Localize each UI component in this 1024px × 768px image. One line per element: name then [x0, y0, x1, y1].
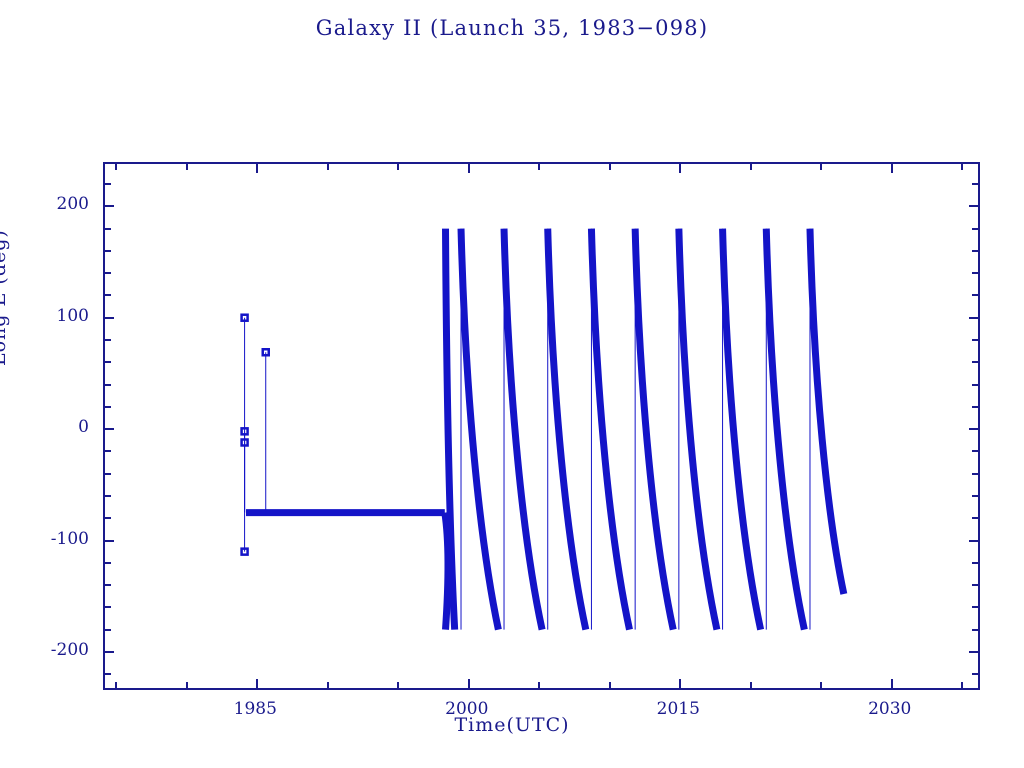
early-data-point	[242, 315, 248, 321]
x-tick-minor-top	[186, 164, 188, 170]
y-tick-minor-right	[972, 250, 978, 252]
y-tick-minor-right	[972, 562, 978, 564]
y-tick-minor	[105, 584, 111, 586]
y-tick-label: -200	[29, 640, 89, 660]
plot-frame	[103, 162, 980, 690]
y-tick-minor	[105, 517, 111, 519]
x-tick-minor-top	[820, 164, 822, 170]
y-tick-minor-right	[972, 584, 978, 586]
x-tick-minor	[327, 682, 329, 688]
x-tick-minor-top	[961, 164, 963, 170]
y-tick-minor	[105, 473, 111, 475]
x-tick-minor-top	[327, 164, 329, 170]
y-tick-label: 0	[29, 417, 89, 437]
y-tick-minor-right	[972, 294, 978, 296]
y-tick-major-right	[969, 428, 978, 430]
y-tick-minor-right	[972, 183, 978, 185]
y-tick-minor-right	[972, 629, 978, 631]
x-tick-minor	[538, 682, 540, 688]
x-tick-major-top	[468, 164, 470, 173]
x-tick-minor	[750, 682, 752, 688]
y-tick-minor	[105, 294, 111, 296]
y-tick-major	[105, 651, 114, 653]
y-tick-minor	[105, 272, 111, 274]
y-tick-label: 100	[29, 306, 89, 326]
y-tick-minor	[105, 228, 111, 230]
y-tick-label: 200	[29, 194, 89, 214]
y-tick-minor-right	[972, 272, 978, 274]
y-tick-major	[105, 317, 114, 319]
drift-cycle-curve	[591, 229, 629, 630]
y-tick-minor	[105, 495, 111, 497]
y-tick-minor	[105, 361, 111, 363]
x-axis-title: Time(UTC)	[0, 714, 1024, 736]
y-tick-minor	[105, 339, 111, 341]
y-tick-minor	[105, 629, 111, 631]
y-tick-minor	[105, 673, 111, 675]
x-tick-minor	[820, 682, 822, 688]
x-tick-minor	[961, 682, 963, 688]
x-tick-major-top	[891, 164, 893, 173]
longitude-series	[242, 229, 844, 630]
y-tick-minor-right	[972, 495, 978, 497]
x-tick-minor-top	[538, 164, 540, 170]
y-tick-minor	[105, 562, 111, 564]
y-tick-major-right	[969, 317, 978, 319]
drift-cycle-curve	[723, 229, 761, 630]
x-tick-minor-top	[609, 164, 611, 170]
y-tick-minor-right	[972, 606, 978, 608]
drift-cycle-curve	[461, 229, 498, 630]
y-tick-major-right	[969, 651, 978, 653]
y-tick-major	[105, 540, 114, 542]
drift-cycle-curve	[810, 229, 844, 594]
x-tick-minor	[115, 682, 117, 688]
x-tick-major-top	[256, 164, 258, 173]
y-tick-major	[105, 205, 114, 207]
x-tick-major-top	[679, 164, 681, 173]
x-tick-major	[679, 679, 681, 688]
y-tick-minor-right	[972, 406, 978, 408]
y-tick-minor-right	[972, 450, 978, 452]
x-tick-major	[468, 679, 470, 688]
drift-cycle-curve	[504, 229, 542, 630]
x-tick-minor	[397, 682, 399, 688]
chart-page: Galaxy II (Launch 35, 1983−098) 2001000-…	[0, 0, 1024, 768]
y-tick-label: -100	[29, 529, 89, 549]
x-tick-minor	[186, 682, 188, 688]
y-tick-minor	[105, 450, 111, 452]
y-tick-minor-right	[972, 517, 978, 519]
x-tick-minor	[609, 682, 611, 688]
y-tick-major-right	[969, 540, 978, 542]
x-tick-major	[891, 679, 893, 688]
y-tick-minor-right	[972, 361, 978, 363]
y-tick-minor	[105, 384, 111, 386]
page-title: Galaxy II (Launch 35, 1983−098)	[0, 16, 1024, 40]
x-tick-minor-top	[397, 164, 399, 170]
data-series-layer	[105, 164, 982, 692]
y-tick-minor-right	[972, 228, 978, 230]
y-tick-minor	[105, 406, 111, 408]
y-tick-minor-right	[972, 384, 978, 386]
y-axis-title: Long E (deg)	[0, 229, 10, 366]
drift-cycle-curve	[766, 229, 804, 630]
y-tick-minor	[105, 250, 111, 252]
y-tick-minor-right	[972, 473, 978, 475]
y-tick-minor	[105, 183, 111, 185]
drift-cycle-curve	[548, 229, 586, 630]
drift-cycle-curve	[635, 229, 673, 630]
y-tick-minor-right	[972, 339, 978, 341]
x-tick-major	[256, 679, 258, 688]
y-tick-minor	[105, 606, 111, 608]
y-tick-major-right	[969, 205, 978, 207]
y-tick-major	[105, 428, 114, 430]
x-tick-minor-top	[115, 164, 117, 170]
x-tick-minor-top	[750, 164, 752, 170]
y-tick-minor-right	[972, 673, 978, 675]
drift-cycle-curve	[679, 229, 717, 630]
